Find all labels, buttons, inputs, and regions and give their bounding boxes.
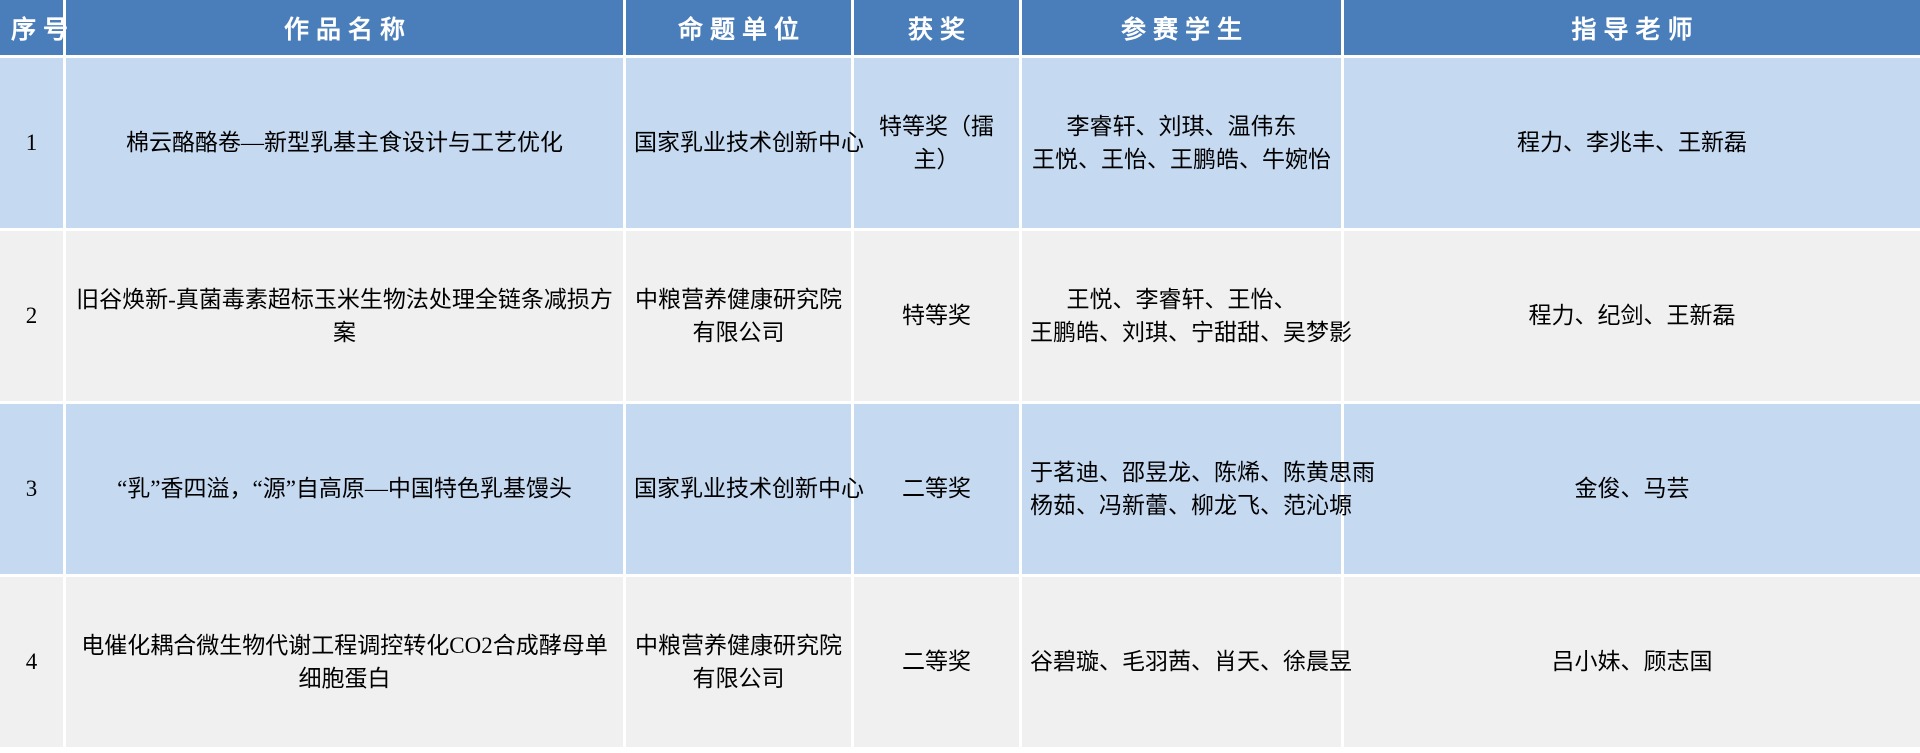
- cell-award: 二等奖: [854, 404, 1022, 577]
- cell-teachers: 程力、纪剑、王新磊: [1344, 231, 1920, 404]
- cell-teachers: 程力、李兆丰、王新磊: [1344, 58, 1920, 231]
- column-header-award: 获奖: [854, 0, 1022, 58]
- cell-students-line: 于茗迪、邵昱龙、陈烯、陈黄思雨: [1030, 456, 1333, 489]
- cell-project-title: 棉云酪酪卷—新型乳基主食设计与工艺优化: [66, 58, 626, 231]
- cell-students: 王悦、李睿轩、王怡、王鹏皓、刘琪、宁甜甜、吴梦影: [1022, 231, 1344, 404]
- award-results-table: 序号 作品名称 命题单位 获奖 参赛学生 指导老师 1棉云酪酪卷—新型乳基主食设…: [0, 0, 1920, 750]
- table-row: 4电催化耦合微生物代谢工程调控转化CO2合成酵母单细胞蛋白中粮营养健康研究院有限…: [0, 577, 1920, 750]
- column-header-teachers: 指导老师: [1344, 0, 1920, 58]
- cell-sequence-number: 1: [0, 58, 66, 231]
- cell-proposing-unit-line: 有限公司: [634, 662, 843, 695]
- cell-teachers: 金俊、马芸: [1344, 404, 1920, 577]
- table-row: 2旧谷焕新-真菌毒素超标玉米生物法处理全链条减损方案中粮营养健康研究院有限公司特…: [0, 231, 1920, 404]
- header-row: 序号 作品名称 命题单位 获奖 参赛学生 指导老师: [0, 0, 1920, 58]
- cell-proposing-unit-line: 中粮营养健康研究院: [634, 283, 843, 316]
- cell-teachers-line: 吕小妹、顾志国: [1352, 645, 1912, 678]
- cell-project-title: 旧谷焕新-真菌毒素超标玉米生物法处理全链条减损方案: [66, 231, 626, 404]
- cell-proposing-unit: 中粮营养健康研究院有限公司: [626, 231, 854, 404]
- cell-project-title: 电催化耦合微生物代谢工程调控转化CO2合成酵母单细胞蛋白: [66, 577, 626, 750]
- cell-award: 特等奖: [854, 231, 1022, 404]
- cell-proposing-unit: 中粮营养健康研究院有限公司: [626, 577, 854, 750]
- table-row: 3“乳”香四溢，“源”自高原—中国特色乳基馒头国家乳业技术创新中心二等奖于茗迪、…: [0, 404, 1920, 577]
- cell-proposing-unit-line: 国家乳业技术创新中心: [634, 126, 843, 159]
- cell-award: 特等奖（擂主）: [854, 58, 1022, 231]
- cell-students: 于茗迪、邵昱龙、陈烯、陈黄思雨杨茹、冯新蕾、柳龙飞、范沁塬: [1022, 404, 1344, 577]
- cell-proposing-unit-line: 有限公司: [634, 316, 843, 349]
- table-header: 序号 作品名称 命题单位 获奖 参赛学生 指导老师: [0, 0, 1920, 58]
- cell-teachers-line: 程力、李兆丰、王新磊: [1352, 126, 1912, 159]
- cell-proposing-unit-line: 国家乳业技术创新中心: [634, 472, 843, 505]
- cell-award: 二等奖: [854, 577, 1022, 750]
- cell-sequence-number: 3: [0, 404, 66, 577]
- column-header-no: 序号: [0, 0, 66, 58]
- cell-students: 谷碧璇、毛羽茜、肖天、徐晨昱: [1022, 577, 1344, 750]
- cell-teachers-line: 金俊、马芸: [1352, 472, 1912, 505]
- cell-sequence-number: 4: [0, 577, 66, 750]
- cell-students-line: 李睿轩、刘琪、温伟东: [1030, 110, 1333, 143]
- cell-students-line: 谷碧璇、毛羽茜、肖天、徐晨昱: [1030, 645, 1333, 678]
- column-header-unit: 命题单位: [626, 0, 854, 58]
- cell-project-title: “乳”香四溢，“源”自高原—中国特色乳基馒头: [66, 404, 626, 577]
- cell-students-line: 王悦、王怡、王鹏皓、牛婉怡: [1030, 143, 1333, 176]
- cell-proposing-unit: 国家乳业技术创新中心: [626, 404, 854, 577]
- cell-sequence-number: 2: [0, 231, 66, 404]
- cell-teachers-line: 程力、纪剑、王新磊: [1352, 299, 1912, 332]
- cell-students-line: 杨茹、冯新蕾、柳龙飞、范沁塬: [1030, 489, 1333, 522]
- cell-students-line: 王鹏皓、刘琪、宁甜甜、吴梦影: [1030, 316, 1333, 349]
- cell-proposing-unit-line: 中粮营养健康研究院: [634, 629, 843, 662]
- cell-teachers: 吕小妹、顾志国: [1344, 577, 1920, 750]
- table-row: 1棉云酪酪卷—新型乳基主食设计与工艺优化国家乳业技术创新中心特等奖（擂主）李睿轩…: [0, 58, 1920, 231]
- column-header-students: 参赛学生: [1022, 0, 1344, 58]
- cell-proposing-unit: 国家乳业技术创新中心: [626, 58, 854, 231]
- cell-students-line: 王悦、李睿轩、王怡、: [1030, 283, 1333, 316]
- cell-students: 李睿轩、刘琪、温伟东王悦、王怡、王鹏皓、牛婉怡: [1022, 58, 1344, 231]
- table-body: 1棉云酪酪卷—新型乳基主食设计与工艺优化国家乳业技术创新中心特等奖（擂主）李睿轩…: [0, 58, 1920, 750]
- column-header-title: 作品名称: [66, 0, 626, 58]
